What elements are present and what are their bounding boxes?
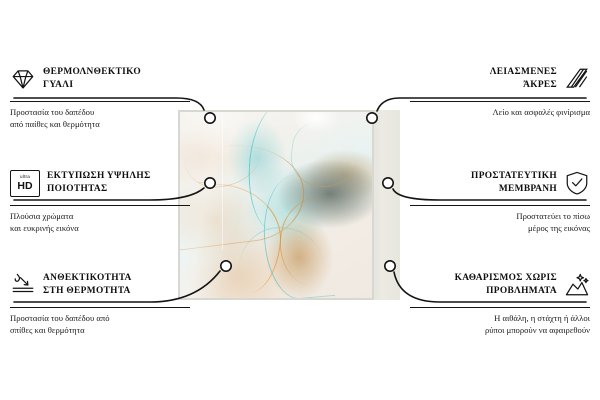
feature-title: ΚΑΘΑΡΙΣΜΟΣ ΧΩΡΙΣ ΠΡΟΒΛΗΜΑΤΑ bbox=[455, 272, 557, 298]
feature-title: ΠΡΟΣΤΑΤΕΥΤΙΚΗ ΜΕΜΒΡΑΝΗ bbox=[471, 170, 557, 196]
feature-description: Προστατεύει το πίσω μέρος της εικόνας bbox=[410, 210, 590, 234]
feature-heat-resistant-glass: ΘΕΡΜΟΛΝΘΕΚΤΙΚΟ ΓΥΑΛΙ Προστασία του δαπέδ… bbox=[10, 62, 190, 130]
feature-header: ΑΝΘΕΚΤΙΚΟΤΗΤΑ ΣΤΗ ΘΕΡΜΟΤΗΤΑ bbox=[10, 268, 190, 302]
feature-protective-membrane: ΠΡΟΣΤΑΤΕΥΤΙΚΗ ΜΕΜΒΡΑΝΗ Προστατεύει το πί… bbox=[410, 166, 590, 234]
feature-title: ΘΕΡΜΟΛΝΘΕΚΤΙΚΟ ΓΥΑΛΙ bbox=[43, 66, 141, 92]
feature-heat-durability: ΑΝΘΕΚΤΙΚΟΤΗΤΑ ΣΤΗ ΘΕΡΜΟΤΗΤΑ Προστασία το… bbox=[10, 268, 190, 336]
feature-title: ΑΝΘΕΚΤΙΚΟΤΗΤΑ ΣΤΗ ΘΕΡΜΟΤΗΤΑ bbox=[43, 272, 132, 298]
feature-description: Προστασία του δαπέδου από παίθες και θερ… bbox=[10, 106, 190, 130]
feature-header: ΚΑΘΑΡΙΣΜΟΣ ΧΩΡΙΣ ΠΡΟΒΛΗΜΑΤΑ bbox=[410, 268, 590, 302]
feature-high-quality-print: ultra HD ΕΚΤΥΠΩΣΗ ΥΨΗΛΗΣ ΠΟΙΟΤΗΤΑΣ Πλούσ… bbox=[10, 166, 190, 234]
glass-glare bbox=[291, 112, 341, 134]
feature-header: ΘΕΡΜΟΛΝΘΕΚΤΙΚΟ ΓΥΑΛΙ bbox=[10, 62, 190, 96]
infographic-canvas: ΘΕΡΜΟΛΝΘΕΚΤΙΚΟ ΓΥΑΛΙ Προστασία του δαπέδ… bbox=[0, 0, 600, 400]
flame-shield-icon bbox=[10, 272, 36, 298]
feature-title: ΕΚΤΥΠΩΣΗ ΥΨΗΛΗΣ ΠΟΙΟΤΗΤΑΣ bbox=[47, 170, 151, 196]
feature-header: ΛΕΙΑΣΜΕΝΕΣ ΆΚΡΕΣ bbox=[410, 62, 590, 96]
polished-edges-icon bbox=[564, 66, 590, 92]
diamond-icon bbox=[10, 66, 36, 92]
glass-panel-frame bbox=[178, 110, 374, 300]
feature-divider bbox=[410, 101, 590, 102]
feature-divider bbox=[10, 307, 190, 308]
feature-header: ultra HD ΕΚΤΥΠΩΣΗ ΥΨΗΛΗΣ ΠΟΙΟΤΗΤΑΣ bbox=[10, 166, 190, 200]
feature-description: Λείο και ασφαλές φινίρισμα bbox=[410, 106, 590, 118]
feature-polished-edges: ΛΕΙΑΣΜΕΝΕΣ ΆΚΡΕΣ Λείο και ασφαλές φινίρι… bbox=[410, 62, 590, 118]
glass-reflection bbox=[180, 112, 372, 298]
feature-header: ΠΡΟΣΤΑΤΕΥΤΙΚΗ ΜΕΜΒΡΑΝΗ bbox=[410, 166, 590, 200]
hd-badge-small-label: ultra bbox=[20, 175, 30, 180]
feature-divider bbox=[410, 205, 590, 206]
feature-easy-cleaning: ΚΑΘΑΡΙΣΜΟΣ ΧΩΡΙΣ ΠΡΟΒΛΗΜΑΤΑ Η αιθάλη, η … bbox=[410, 268, 590, 336]
feature-description: Προστασία του δαπέδου από σπίθες και θερ… bbox=[10, 312, 190, 336]
hd-badge-main-label: HD bbox=[17, 181, 32, 192]
feature-title: ΛΕΙΑΣΜΕΝΕΣ ΆΚΡΕΣ bbox=[490, 66, 557, 92]
feature-divider bbox=[10, 205, 190, 206]
shield-check-icon bbox=[564, 170, 590, 196]
feature-description: Πλούσια χρώματα και ευκρινής εικόνα bbox=[10, 210, 190, 234]
sparkle-cloth-icon bbox=[564, 272, 590, 298]
feature-divider bbox=[10, 101, 190, 102]
product-image-container bbox=[178, 110, 400, 300]
feature-divider bbox=[410, 307, 590, 308]
product-side-panel bbox=[370, 110, 400, 300]
ultra-hd-icon: ultra HD bbox=[10, 170, 40, 197]
abstract-marble-artwork bbox=[180, 112, 372, 298]
feature-description: Η αιθάλη, η στάχτη ή άλλοι ρύποι μπορούν… bbox=[410, 312, 590, 336]
